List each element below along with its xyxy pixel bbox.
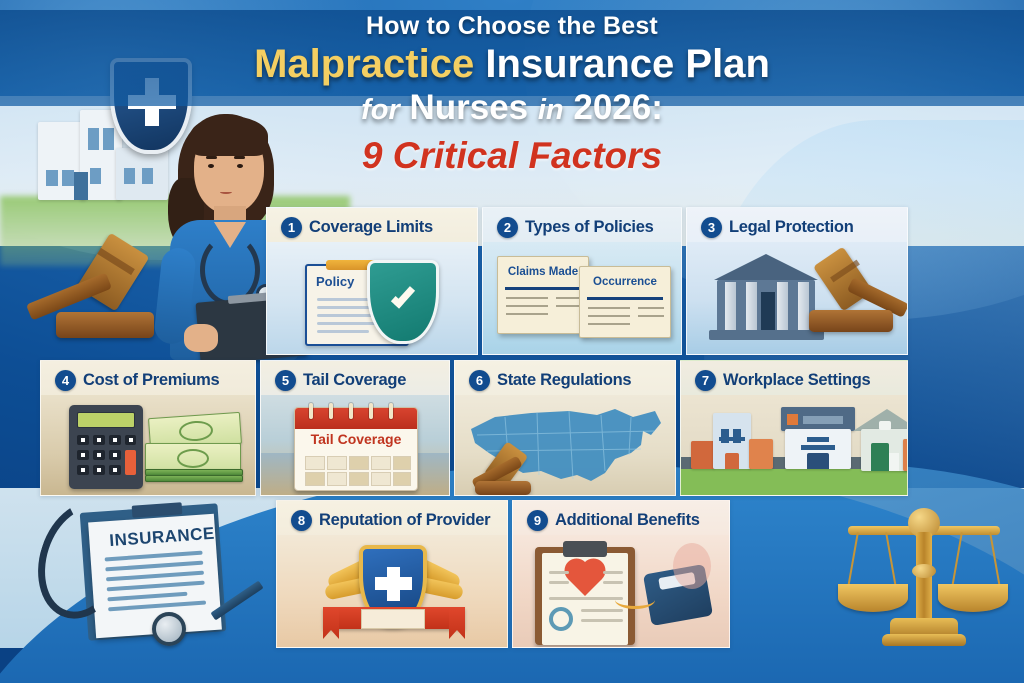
gavel-icon-card6 xyxy=(471,445,555,496)
building-hospital xyxy=(781,407,855,469)
card-7-header: 7 Workplace Settings xyxy=(681,361,907,391)
card-4-artwork xyxy=(41,395,255,495)
card-7-title: Workplace Settings xyxy=(723,371,870,390)
card-6-title: State Regulations xyxy=(497,371,631,390)
card-6-number-badge: 6 xyxy=(469,370,490,391)
tail-coverage-calendar: Tail Coverage xyxy=(294,407,418,491)
calculator-icon xyxy=(69,405,143,489)
card-9-title: Additional Benefits xyxy=(555,511,700,530)
title-line-2: Malpractice Insurance Plan xyxy=(0,43,1024,85)
title-block: How to Choose the Best Malpractice Insur… xyxy=(0,4,1024,177)
title-in: in xyxy=(538,94,564,126)
building-clinic xyxy=(691,413,773,469)
card-8-artwork xyxy=(277,535,507,647)
card-4-number-badge: 4 xyxy=(55,370,76,391)
booklet-occurrence-label: Occurrence xyxy=(580,276,670,288)
card-9-number-badge: 9 xyxy=(527,510,548,531)
title-nurses: Nurses xyxy=(400,88,538,127)
card-5-header: 5 Tail Coverage xyxy=(261,361,449,391)
gavel-icon-card3 xyxy=(807,248,907,348)
policy-doc-label: Policy xyxy=(316,274,354,289)
card-2-artwork: Claims Made Occurrence xyxy=(483,242,681,354)
calendar-label: Tail Coverage xyxy=(295,431,417,447)
card-2-types-of-policies[interactable]: 2 Types of Policies Claims Made Occurren… xyxy=(482,207,682,355)
building-home xyxy=(859,409,908,469)
title-line-3: for Nurses in 2026: xyxy=(0,89,1024,127)
title-for: for xyxy=(361,94,400,126)
scales-of-justice xyxy=(838,498,1010,648)
card-3-legal-protection[interactable]: 3 Legal Protection xyxy=(686,207,908,355)
card-1-title: Coverage Limits xyxy=(309,218,433,237)
stethoscope-bell xyxy=(152,612,186,646)
card-8-header: 8 Reputation of Provider xyxy=(277,501,507,531)
card-3-header: 3 Legal Protection xyxy=(687,208,907,238)
title-line-1: How to Choose the Best xyxy=(0,4,1024,41)
infographic-canvas: How to Choose the Best Malpractice Insur… xyxy=(0,0,1024,683)
title-line-4-subtitle: 9 Critical Factors xyxy=(0,135,1024,177)
award-emblem xyxy=(323,541,465,645)
cash-stack-icon xyxy=(145,413,249,491)
card-6-artwork xyxy=(455,395,675,495)
booklet-occurrence: Occurrence xyxy=(579,266,671,338)
title-year: 2026: xyxy=(564,88,663,127)
card-3-number-badge: 3 xyxy=(701,217,722,238)
booklet-claims-made-label: Claims Made xyxy=(498,266,588,278)
card-2-number-badge: 2 xyxy=(497,217,518,238)
card-7-artwork xyxy=(681,395,907,495)
insurance-document-decor: INSURANCE xyxy=(40,500,300,650)
card-9-additional-benefits[interactable]: 9 Additional Benefits xyxy=(512,500,730,648)
card-2-title: Types of Policies xyxy=(525,218,653,237)
card-4-title: Cost of Premiums xyxy=(83,371,219,390)
card-4-cost-of-premiums[interactable]: 4 Cost of Premiums xyxy=(40,360,256,496)
card-5-title: Tail Coverage xyxy=(303,371,406,390)
card-1-header: 1 Coverage Limits xyxy=(267,208,477,238)
card-3-artwork xyxy=(687,242,907,354)
booklet-claims-made: Claims Made xyxy=(497,256,589,334)
card-9-artwork xyxy=(513,535,729,647)
card-2-header: 2 Types of Policies xyxy=(483,208,681,238)
tag-pin-decor xyxy=(673,543,711,589)
card-6-state-regulations[interactable]: 6 State Regulations xyxy=(454,360,676,496)
card-1-coverage-limits[interactable]: 1 Coverage Limits Policy xyxy=(266,207,478,355)
card-5-number-badge: 5 xyxy=(275,370,296,391)
card-6-header: 6 State Regulations xyxy=(455,361,675,391)
card-1-artwork: Policy xyxy=(267,242,477,354)
card-5-tail-coverage[interactable]: 5 Tail Coverage Tail Coverage xyxy=(260,360,450,496)
card-7-workplace-settings[interactable]: 7 Workplace Settings xyxy=(680,360,908,496)
card-1-number-badge: 1 xyxy=(281,217,302,238)
card-7-number-badge: 7 xyxy=(695,370,716,391)
card-3-title: Legal Protection xyxy=(729,218,853,237)
card-9-header: 9 Additional Benefits xyxy=(513,501,729,531)
card-8-reputation-of-provider[interactable]: 8 Reputation of Provider xyxy=(276,500,508,648)
title-line-2-rest: Insurance Plan xyxy=(474,42,770,86)
card-4-header: 4 Cost of Premiums xyxy=(41,361,255,391)
card-8-title: Reputation of Provider xyxy=(319,511,490,530)
card-5-artwork: Tail Coverage xyxy=(261,395,449,495)
title-highlight-malpractice: Malpractice xyxy=(254,42,474,86)
